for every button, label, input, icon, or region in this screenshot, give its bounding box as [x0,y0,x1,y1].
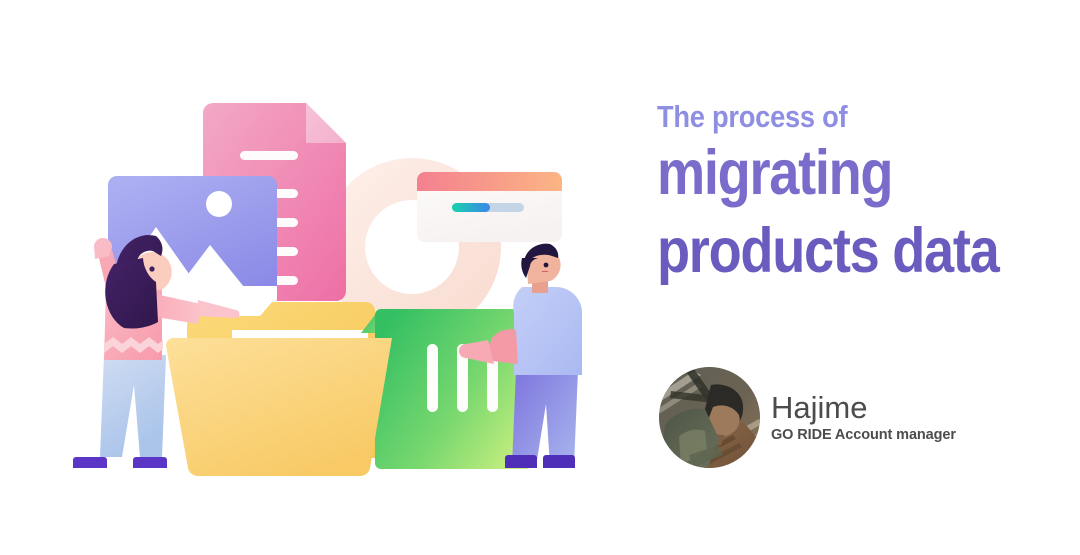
headline-line-1: migrating [657,134,1001,212]
author-byline: Hajime GO RIDE Account manager [659,367,956,468]
yellow-folder-front-icon [166,338,392,476]
author-text: Hajime GO RIDE Account manager [771,391,956,445]
hero-illustration [0,0,640,555]
headline-line-2: products data [657,212,1001,290]
eyebrow-text: The process of [657,100,1009,134]
avatar [659,367,760,468]
banner-root: The process of migrating products data [0,0,1080,555]
page-title: migrating products data [657,134,1057,290]
progress-fill [452,203,490,212]
author-role: GO RIDE Account manager [771,426,956,445]
progress-card-icon [417,172,562,242]
headline-block: The process of migrating products data [657,100,1057,290]
author-name: Hajime [771,391,956,425]
